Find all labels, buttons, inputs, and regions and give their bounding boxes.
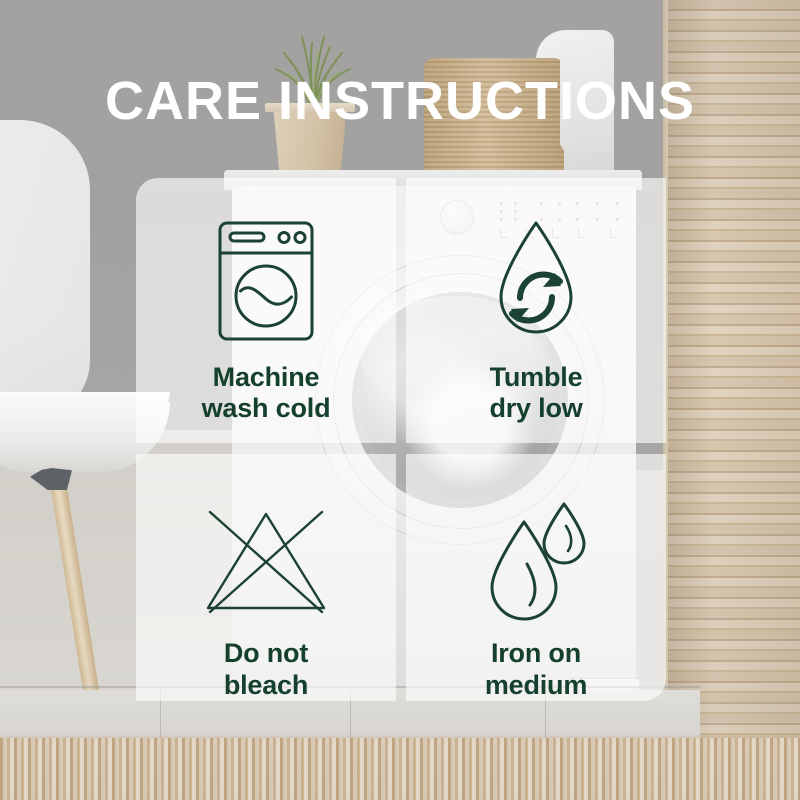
chair-backrest <box>0 120 90 420</box>
care-instructions-graphic: CARE INSTRUCTIONS Machine wash cold <box>0 0 800 800</box>
droplet-refresh-icon <box>466 206 606 356</box>
care-card-label: Do not bleach <box>224 638 308 701</box>
striped-woven-rug <box>0 738 800 800</box>
care-card-label: Machine wash cold <box>202 362 331 425</box>
care-card-machine-wash-cold[interactable]: Machine wash cold <box>136 178 396 443</box>
care-card-do-not-bleach[interactable]: Do not bleach <box>136 454 396 701</box>
care-card-tumble-dry-low[interactable]: Tumble dry low <box>406 178 666 443</box>
crossed-triangle-icon <box>196 496 336 628</box>
page-title: CARE INSTRUCTIONS <box>0 74 800 128</box>
two-droplets-icon <box>466 496 606 628</box>
care-card-label: Iron on medium <box>485 638 587 701</box>
care-card-label: Tumble dry low <box>489 362 582 425</box>
care-card-iron-on-medium[interactable]: Iron on medium <box>406 454 666 701</box>
care-symbol-grid: Machine wash cold Tumble dry low <box>136 178 666 701</box>
washing-machine-icon <box>196 206 336 356</box>
